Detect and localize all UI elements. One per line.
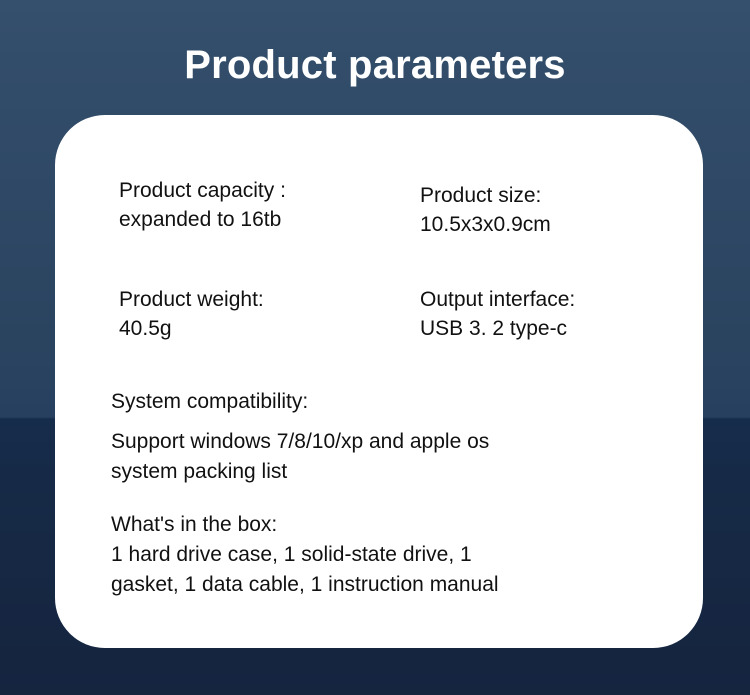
- specifications-grid: Product capacity : expanded to 16tb Prod…: [55, 115, 703, 648]
- product-parameters-poster: Product parameters Product capacity : ex…: [0, 0, 750, 695]
- spec-product-size: Product size: 10.5x3x0.9cm: [420, 181, 551, 239]
- system-compatibility-body: Support windows 7/8/10/xp and apple os s…: [111, 427, 489, 487]
- system-compatibility-heading: System compatibility:: [111, 387, 308, 417]
- spec-output-interface: Output interface: USB 3. 2 type-c: [420, 285, 575, 343]
- box-contents-body: 1 hard drive case, 1 solid-state drive, …: [111, 540, 499, 600]
- box-contents-heading: What's in the box:: [111, 510, 277, 540]
- spec-product-weight: Product weight: 40.5g: [119, 285, 264, 343]
- spec-product-capacity: Product capacity : expanded to 16tb: [119, 176, 286, 234]
- specifications-card: Product capacity : expanded to 16tb Prod…: [55, 115, 703, 648]
- page-title: Product parameters: [0, 41, 750, 89]
